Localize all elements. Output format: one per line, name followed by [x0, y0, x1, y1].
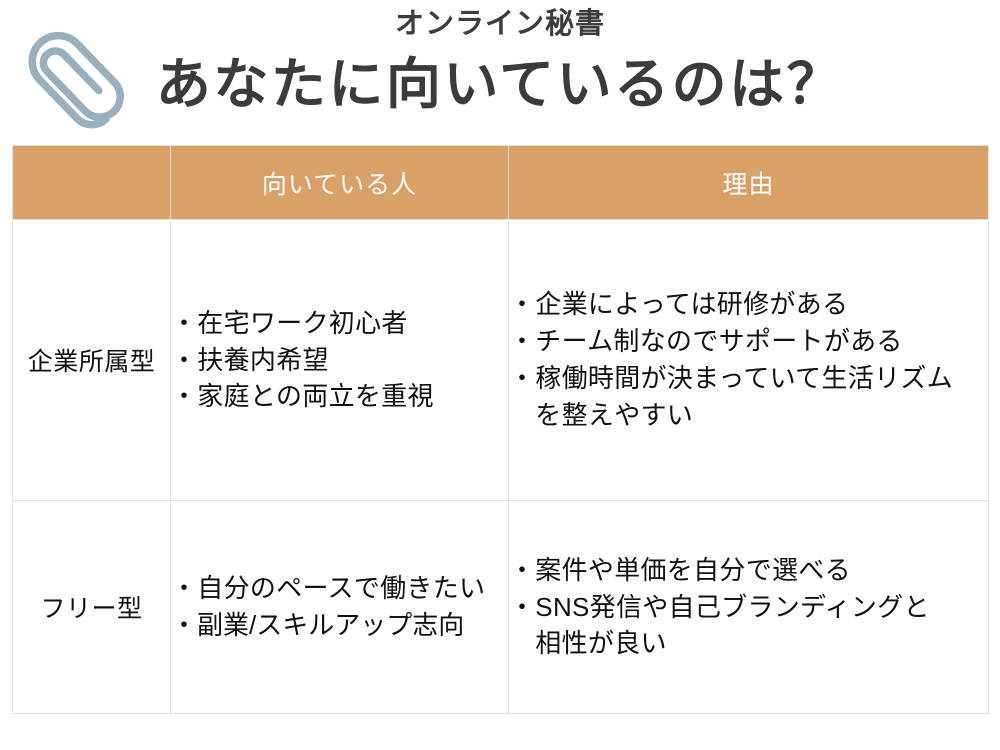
page-title: あなたに向いているのは？ [0, 52, 1000, 117]
list-item: ・家庭との両立を重視 [171, 378, 508, 415]
table-row: 企業所属型 ・在宅ワーク初心者 ・扶養内希望 ・家庭との両立を重視 ・企業によっ… [13, 220, 989, 501]
column-header-who: 向いている人 [171, 146, 509, 220]
bullet-list: ・自分のペースで働きたい ・副業/スキルアップ志向 [171, 570, 508, 644]
table-row: フリー型 ・自分のペースで働きたい ・副業/スキルアップ志向 ・案件や単価を自分… [13, 501, 989, 714]
column-header-reason: 理由 [509, 146, 989, 220]
table-header-row: 向いている人 理由 [13, 146, 989, 220]
comparison-table: 向いている人 理由 企業所属型 ・在宅ワーク初心者 ・扶養内希望 ・家庭との両立… [12, 145, 989, 714]
list-item: ・在宅ワーク初心者 [171, 305, 508, 342]
list-item: ・稼働時間が決まっていて生活リズム [509, 360, 988, 397]
list-item: ・SNS発信や自己ブランディングと [509, 589, 988, 626]
row-reason-cell: ・企業によっては研修がある ・チーム制なのでサポートがある ・稼働時間が決まって… [509, 220, 989, 501]
list-item-continuation: を整えやすい [509, 397, 988, 434]
row-who-cell: ・在宅ワーク初心者 ・扶養内希望 ・家庭との両立を重視 [171, 220, 509, 501]
list-item: ・副業/スキルアップ志向 [171, 607, 508, 644]
column-header-type [13, 146, 171, 220]
list-item: ・企業によっては研修がある [509, 286, 988, 323]
title-header: オンライン秘書 あなたに向いているのは？ [0, 0, 1000, 145]
bullet-list: ・在宅ワーク初心者 ・扶養内希望 ・家庭との両立を重視 [171, 305, 508, 416]
list-item: ・自分のペースで働きたい [171, 570, 508, 607]
list-item: ・扶養内希望 [171, 342, 508, 379]
row-who-cell: ・自分のペースで働きたい ・副業/スキルアップ志向 [171, 501, 509, 714]
row-type-label: フリー型 [13, 501, 171, 714]
list-item: ・案件や単価を自分で選べる [509, 552, 988, 589]
row-type-label: 企業所属型 [13, 220, 171, 501]
list-item: ・チーム制なのでサポートがある [509, 323, 988, 360]
bullet-list: ・案件や単価を自分で選べる ・SNS発信や自己ブランディングと 相性が良い [509, 552, 988, 663]
bullet-list: ・企業によっては研修がある ・チーム制なのでサポートがある ・稼働時間が決まって… [509, 286, 988, 434]
list-item-continuation: 相性が良い [509, 625, 988, 662]
eyebrow-title: オンライン秘書 [0, 8, 1000, 41]
row-reason-cell: ・案件や単価を自分で選べる ・SNS発信や自己ブランディングと 相性が良い [509, 501, 989, 714]
